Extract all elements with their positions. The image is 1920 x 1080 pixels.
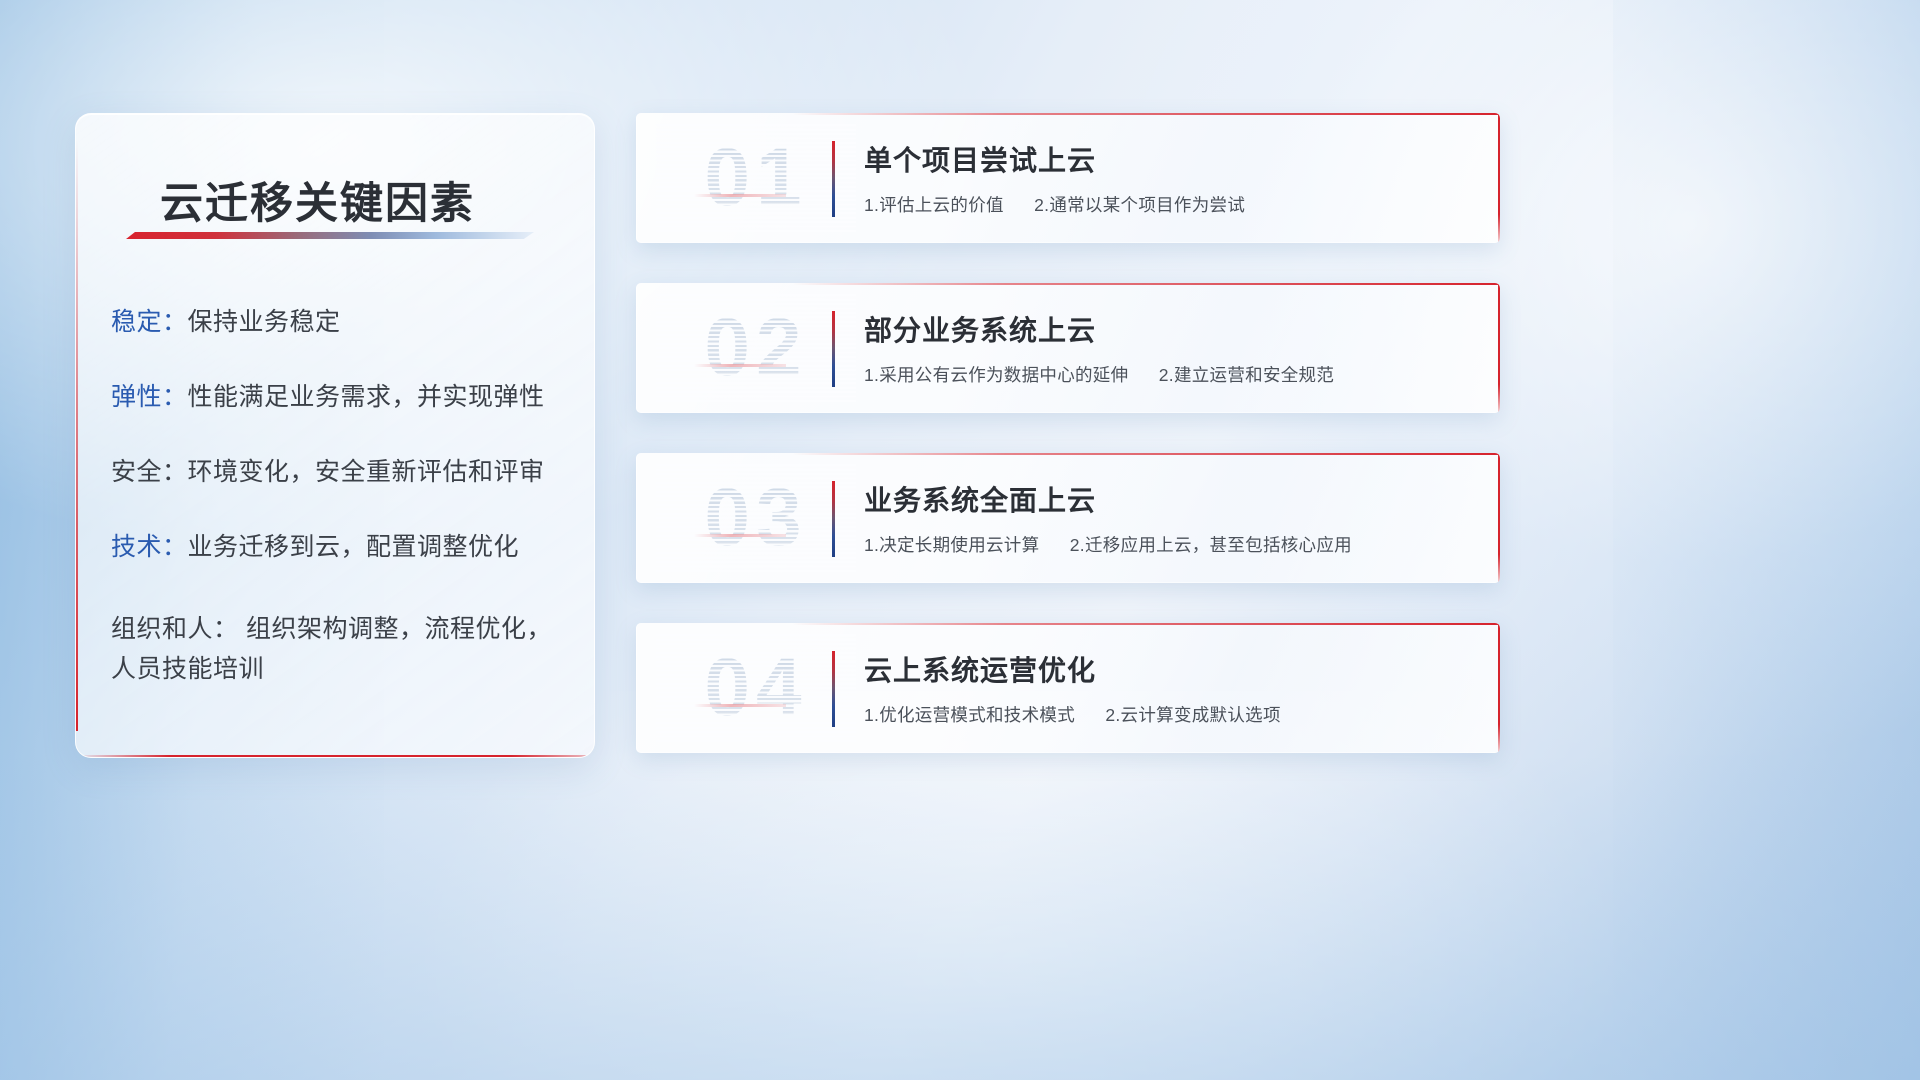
factor-row: 弹性： 性能满足业务需求，并实现弹性 bbox=[111, 385, 572, 410]
slide-content: 云迁移关键因素 稳定： 保持业务稳定 弹性： 性能满足业务需求，并实现弹性 安全… bbox=[0, 0, 1920, 1080]
stage-desc-second: 2.云计算变成默认选项 bbox=[1105, 705, 1280, 725]
factor-row: 技术： 业务迁移到云，配置调整优化 bbox=[111, 535, 572, 560]
stage-number: 01 bbox=[656, 124, 856, 232]
stage-description: 1.采用公有云作为数据中心的延伸 2.建立运营和安全规范 bbox=[864, 362, 1472, 387]
stage-card[interactable]: 01 单个项目尝试上云 1.评估上云的价值 2.通常以某个项目作为尝试 bbox=[636, 113, 1500, 243]
factor-row: 安全： 环境变化，安全重新评估和评审 bbox=[111, 460, 572, 485]
stage-desc-second: 2.迁移应用上云，甚至包括核心应用 bbox=[1070, 535, 1352, 555]
factor-label: 技术： bbox=[111, 535, 188, 560]
factor-text: 保持业务稳定 bbox=[188, 310, 341, 335]
stage-desc-second: 2.建立运营和安全规范 bbox=[1159, 365, 1334, 385]
stage-card[interactable]: 02 部分业务系统上云 1.采用公有云作为数据中心的延伸 2.建立运营和安全规范 bbox=[636, 283, 1500, 413]
stage-number: 04 bbox=[656, 634, 856, 742]
stage-description: 1.决定长期使用云计算 2.迁移应用上云，甚至包括核心应用 bbox=[864, 532, 1472, 557]
stage-card-body: 部分业务系统上云 1.采用公有云作为数据中心的延伸 2.建立运营和安全规范 bbox=[864, 309, 1472, 387]
factor-text: 业务迁移到云，配置调整优化 bbox=[188, 535, 520, 560]
migration-stage-list: 01 单个项目尝试上云 1.评估上云的价值 2.通常以某个项目作为尝试 02 部… bbox=[636, 113, 1500, 753]
stage-number: 03 bbox=[656, 464, 856, 572]
stage-number: 02 bbox=[656, 294, 856, 402]
stage-desc-first: 1.决定长期使用云计算 bbox=[864, 535, 1039, 555]
stage-title: 业务系统全面上云 bbox=[864, 479, 1472, 519]
factor-text: 环境变化，安全重新评估和评审 bbox=[188, 460, 545, 485]
factor-label: 弹性： bbox=[111, 385, 188, 410]
card-divider-bar bbox=[832, 311, 835, 387]
page-title: 云迁移关键因素 bbox=[160, 169, 475, 231]
stage-card[interactable]: 03 业务系统全面上云 1.决定长期使用云计算 2.迁移应用上云，甚至包括核心应… bbox=[636, 453, 1500, 583]
factor-list: 稳定： 保持业务稳定 弹性： 性能满足业务需求，并实现弹性 安全： 环境变化，安… bbox=[111, 310, 572, 689]
factor-text: 性能满足业务需求，并实现弹性 bbox=[188, 385, 545, 410]
stage-card-body: 单个项目尝试上云 1.评估上云的价值 2.通常以某个项目作为尝试 bbox=[864, 139, 1472, 217]
title-underline-gradient bbox=[126, 232, 534, 239]
stage-card[interactable]: 04 云上系统运营优化 1.优化运营模式和技术模式 2.云计算变成默认选项 bbox=[636, 623, 1500, 753]
factor-row: 组织和人： 组织架构调整，流程优化，人员技能培训 bbox=[111, 610, 572, 689]
card-divider-bar bbox=[832, 651, 835, 727]
stage-desc-second: 2.通常以某个项目作为尝试 bbox=[1034, 195, 1245, 215]
stage-title: 部分业务系统上云 bbox=[864, 309, 1472, 349]
key-factors-panel: 云迁移关键因素 稳定： 保持业务稳定 弹性： 性能满足业务需求，并实现弹性 安全… bbox=[75, 113, 595, 758]
card-divider-bar bbox=[832, 141, 835, 217]
stage-description: 1.优化运营模式和技术模式 2.云计算变成默认选项 bbox=[864, 702, 1472, 727]
stage-card-body: 云上系统运营优化 1.优化运营模式和技术模式 2.云计算变成默认选项 bbox=[864, 649, 1472, 727]
stage-desc-first: 1.优化运营模式和技术模式 bbox=[864, 705, 1075, 725]
factor-label: 稳定： bbox=[111, 310, 188, 335]
factor-label: 组织和人： bbox=[111, 615, 239, 643]
card-divider-bar bbox=[832, 481, 835, 557]
factor-row: 稳定： 保持业务稳定 bbox=[111, 310, 572, 335]
stage-desc-first: 1.评估上云的价值 bbox=[864, 195, 1004, 215]
stage-description: 1.评估上云的价值 2.通常以某个项目作为尝试 bbox=[864, 192, 1472, 217]
stage-card-body: 业务系统全面上云 1.决定长期使用云计算 2.迁移应用上云，甚至包括核心应用 bbox=[864, 479, 1472, 557]
factor-label: 安全： bbox=[111, 460, 188, 485]
stage-title: 单个项目尝试上云 bbox=[864, 139, 1472, 179]
stage-title: 云上系统运营优化 bbox=[864, 649, 1472, 689]
stage-desc-first: 1.采用公有云作为数据中心的延伸 bbox=[864, 365, 1128, 385]
